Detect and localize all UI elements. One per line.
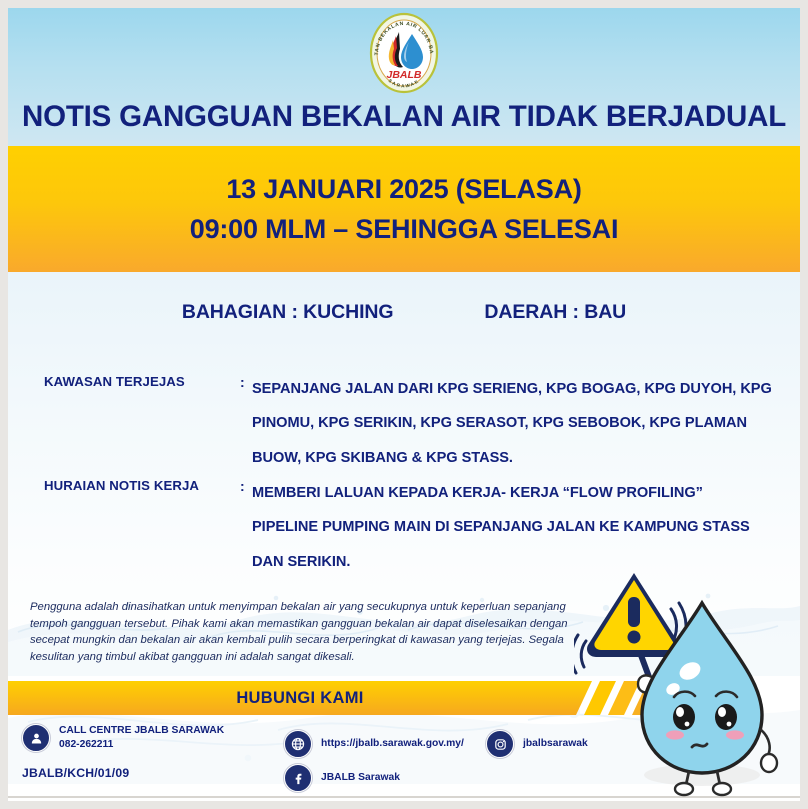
reference-number: JBALB/KCH/01/09 xyxy=(22,766,129,780)
contact-title: HUBUNGI KAMI xyxy=(8,681,592,715)
notice-date: 13 JANUARI 2025 (SELASA) xyxy=(226,169,581,210)
jbalb-logo: JABATAN BEKALAN AIR LUAR BANDAR JBALB SA… xyxy=(365,12,443,94)
call-centre-line2: 082-262211 xyxy=(59,739,113,750)
district-label: DAERAH : BAU xyxy=(484,301,626,324)
work-description-label: HURAIAN NOTIS KERJA xyxy=(44,478,244,493)
instagram-icon xyxy=(486,730,514,758)
page-title: NOTIS GANGGUAN BEKALAN AIR TIDAK BERJADU… xyxy=(8,100,800,134)
website-url: https://jbalb.sarawak.gov.my/ xyxy=(321,737,464,751)
date-banner: 13 JANUARI 2025 (SELASA) 09:00 MLM – SEH… xyxy=(8,146,800,272)
contact-call-centre-text: CALL CENTRE JBALB SARAWAK 082-262211 xyxy=(59,724,224,752)
contact-call-centre[interactable]: CALL CENTRE JBALB SARAWAK 082-262211 xyxy=(22,724,224,752)
contact-instagram[interactable]: jbalbsarawak xyxy=(486,730,588,758)
notice-poster: JABATAN BEKALAN AIR LUAR BANDAR JBALB SA… xyxy=(8,8,800,801)
person-icon xyxy=(22,724,50,752)
region-row: BAHAGIAN : KUCHING DAERAH : BAU xyxy=(8,301,800,324)
poster-footer: HUBUNGI KAMI CALL CENTRE JBALB SARAWAK 0… xyxy=(8,676,800,801)
division-label: BAHAGIAN : KUCHING xyxy=(182,301,394,324)
contact-facebook[interactable]: JBALB Sarawak xyxy=(284,764,400,792)
instagram-handle: jbalbsarawak xyxy=(523,737,588,751)
advisory-text: Pengguna adalah dinasihatkan untuk menyi… xyxy=(30,599,578,666)
facebook-page: JBALB Sarawak xyxy=(321,771,400,785)
work-description-value: MEMBERI LALUAN KEPADA KERJA- KERJA “FLOW… xyxy=(252,476,772,579)
affected-areas-value: SEPANJANG JALAN DARI KPG SERIENG, KPG BO… xyxy=(252,372,772,475)
work-description-colon: : xyxy=(240,478,245,494)
notice-time: 09:00 MLM – SEHINGGA SELESAI xyxy=(190,209,619,250)
poster-body: BAHAGIAN : KUCHING DAERAH : BAU KAWASAN … xyxy=(8,272,800,676)
poster-header: JABATAN BEKALAN AIR LUAR BANDAR JBALB SA… xyxy=(8,8,800,146)
footer-divider xyxy=(8,796,800,798)
facebook-icon xyxy=(284,764,312,792)
call-centre-line1: CALL CENTRE JBALB SARAWAK xyxy=(59,725,224,736)
contact-website[interactable]: https://jbalb.sarawak.gov.my/ xyxy=(284,730,464,758)
affected-areas-label: KAWASAN TERJEJAS xyxy=(44,374,244,389)
affected-areas-colon: : xyxy=(240,374,245,390)
globe-icon xyxy=(284,730,312,758)
